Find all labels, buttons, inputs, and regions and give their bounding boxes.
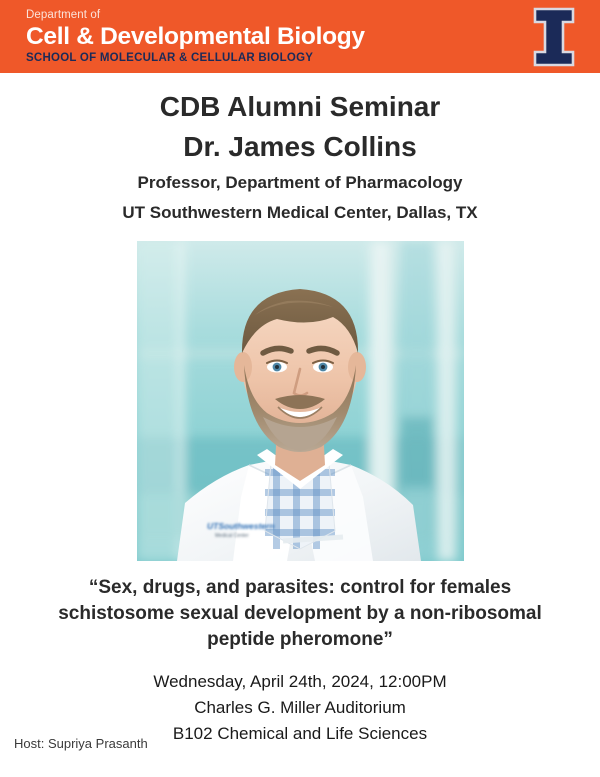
header-school-name: SCHOOL OF MOLECULAR & CELLULAR BIOLOGY (26, 51, 600, 66)
speaker-affiliation-line-1: Professor, Department of Pharmacology (0, 170, 600, 195)
block-i-illinois-logo-icon (532, 7, 576, 67)
svg-text:Medical Center: Medical Center (215, 533, 249, 539)
header-eyebrow: Department of (26, 8, 600, 23)
svg-text:UTSouthwestern: UTSouthwestern (207, 521, 275, 531)
talk-title: “Sex, drugs, and parasites: control for … (35, 575, 565, 653)
host-label: Host: Supriya Prasanth (14, 736, 148, 751)
event-datetime: Wednesday, April 24th, 2024, 12:00PM (0, 669, 600, 695)
department-header-banner: Department of Cell & Developmental Biolo… (0, 0, 600, 73)
speaker-name: Dr. James Collins (0, 129, 600, 165)
speaker-affiliation-line-2: UT Southwestern Medical Center, Dallas, … (0, 200, 600, 225)
event-venue: Charles G. Miller Auditorium (0, 695, 600, 721)
speaker-portrait-photo: UTSouthwestern Medical Center (137, 241, 464, 561)
header-department-name: Cell & Developmental Biology (26, 23, 600, 50)
page-title: CDB Alumni Seminar (0, 89, 600, 125)
poster-content: CDB Alumni Seminar Dr. James Collins Pro… (0, 73, 600, 747)
